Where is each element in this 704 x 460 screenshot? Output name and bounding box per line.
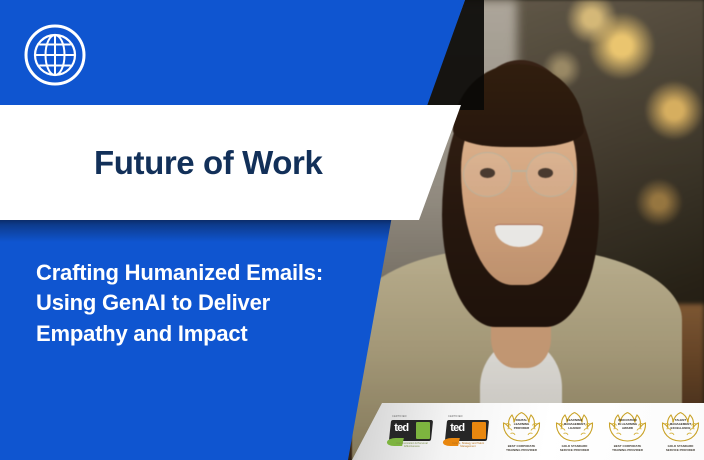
globe-icon [22, 22, 88, 88]
laurel-line-bot: AWARD [622, 427, 633, 431]
laurel-badge: DIGITAL LEARNING PROVIDER BEST CORPORATE… [498, 410, 545, 454]
page-title: Future of Work [94, 144, 322, 182]
ted-badge-green-wordmark: ted [394, 423, 408, 434]
award-badge-strip: CERTIFIED ted Communication & Personal E… [330, 403, 704, 460]
laurel-badge: TALENT MANAGEMENT EXCELLENCE GOLD STANDA… [657, 410, 704, 454]
ted-badge-orange-tag [472, 422, 486, 439]
laurel-foot-line-2: SERVICE PROVIDER [551, 449, 598, 453]
laurel-badge: INNOVATION IN LEARNING AWARD BEST CORPOR… [604, 410, 651, 454]
ted-badge-orange-wordmark: ted [450, 423, 464, 434]
laurel-line-bot: PROVIDER [514, 427, 530, 431]
promo-banner: Future of Work Crafting Humanized Emails… [0, 0, 704, 460]
ted-badge-orange: CERTIFIED ted Culture, Strategy and Tale… [442, 415, 492, 449]
ted-badge-green-caption: Communication & Personal Effectiveness [389, 442, 435, 448]
ted-badge-orange-caption: Culture, Strategy and Talent Management [445, 442, 491, 448]
headline-text: Crafting Humanized Emails: Using GenAI t… [36, 258, 326, 349]
ted-badge-green-tag [416, 422, 430, 439]
laurel-line-bot: EXCELLENCE [671, 427, 691, 431]
ted-badge-orange-cap: CERTIFIED [448, 415, 463, 418]
laurel-badge: LEARNING MANAGEMENT LEADER GOLD STANDARD… [551, 410, 598, 454]
laurel-foot-line-2: TRAINING PROVIDER [498, 449, 545, 453]
laurel-foot-line-2: SERVICE PROVIDER [657, 449, 704, 453]
ted-badge-green-cap: CERTIFIED [392, 415, 407, 418]
category-band: Future of Work [0, 105, 470, 220]
ted-badge-green: CERTIFIED ted Communication & Personal E… [386, 415, 436, 449]
laurel-line-bot: LEADER [568, 427, 580, 431]
laurel-foot-line-2: TRAINING PROVIDER [604, 449, 651, 453]
